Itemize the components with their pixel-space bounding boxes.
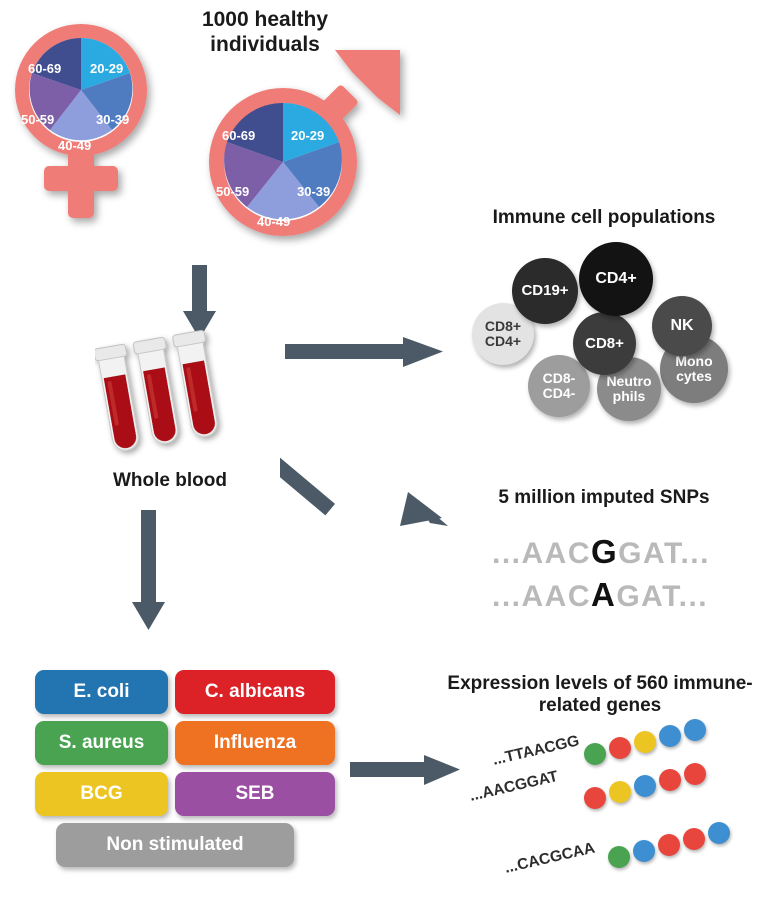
expression-title: Expression levels of 560 immune-related …	[430, 673, 770, 718]
snp-line1-prefix: ...AAC	[492, 537, 591, 570]
bead-red	[683, 828, 705, 850]
stimulus-seb[interactable]: SEB	[175, 772, 335, 816]
immune-cell-label: CD8+ CD4+	[472, 319, 534, 348]
stimulus-label: BCG	[80, 783, 122, 805]
bead-green	[584, 743, 606, 765]
stimulus-e-coli[interactable]: E. coli	[35, 670, 168, 714]
stimulus-c-albicans[interactable]: C. albicans	[175, 670, 335, 714]
bead-blue	[634, 775, 656, 797]
snp-line2-prefix: ...AAC	[492, 580, 591, 613]
female-symbol-graphic	[8, 18, 188, 238]
snp-sequence-line-1: ...AACGGAT...	[492, 533, 710, 571]
stimulus-non-stimulated[interactable]: Non stimulated	[56, 823, 294, 867]
arrow-blood-to-stimuli	[125, 510, 185, 635]
bead-yellow	[609, 781, 631, 803]
arrow-blood-to-immune	[285, 320, 450, 380]
whole-blood-tubes	[95, 330, 255, 465]
immune-cell-label: NK	[670, 318, 693, 335]
bead-red	[684, 763, 706, 785]
immune-cell-label: CD8+	[585, 336, 624, 352]
snp-line2-suffix: GAT...	[616, 580, 708, 613]
snp-line2-variant: A	[591, 576, 616, 613]
bead-blue	[708, 822, 730, 844]
female-sex-symbol: 60-69 20-29 50-59 30-39 40-49	[8, 18, 188, 238]
male-sex-symbol: 60-69 20-29 50-59 30-39 40-49	[195, 42, 425, 252]
bead-blue	[633, 840, 655, 862]
stimulus-label: E. coli	[74, 681, 130, 703]
snp-title: 5 million imputed SNPs	[444, 487, 764, 509]
bead-red	[658, 834, 680, 856]
immune-cell-label: CD8- CD4-	[528, 371, 590, 400]
arrow-blood-to-snps	[280, 418, 460, 548]
stimulus-label: SEB	[235, 783, 274, 805]
immune-cell-nk: NK	[652, 296, 712, 356]
stimulus-label: Influenza	[214, 732, 296, 754]
bead-red	[659, 769, 681, 791]
expression-sequence-3: ...CACGCAA	[503, 840, 597, 878]
snp-line1-variant: G	[591, 533, 618, 570]
stimulus-bcg[interactable]: BCG	[35, 772, 168, 816]
bead-red	[609, 737, 631, 759]
male-symbol-graphic	[195, 42, 425, 252]
figure-canvas: 1000 healthy individuals	[0, 0, 771, 922]
immune-cell-label: Mono cytes	[660, 354, 728, 383]
stimulus-influenza[interactable]: Influenza	[175, 721, 335, 765]
stimulus-label: Non stimulated	[106, 834, 243, 856]
snp-sequence-line-2: ...AACAGAT...	[492, 576, 708, 614]
expression-sequence-1: ...TTAACGG	[491, 732, 581, 769]
immune-cell-cd19pos: CD19+	[512, 258, 578, 324]
snp-line1-suffix: GAT...	[618, 537, 710, 570]
whole-blood-label: Whole blood	[75, 470, 265, 492]
immune-cell-label: CD4+	[595, 271, 636, 288]
bead-blue	[684, 719, 706, 741]
immune-cell-populations-title: Immune cell populations	[444, 207, 764, 229]
immune-cell-label: Neutro phils	[597, 374, 661, 403]
immune-cell-label: CD19+	[521, 283, 568, 299]
bead-blue	[659, 725, 681, 747]
immune-cell-cd4pos: CD4+	[579, 242, 653, 316]
bead-green	[608, 846, 630, 868]
immune-cell-cd8pos: CD8+	[573, 312, 636, 375]
stimulus-label: S. aureus	[59, 732, 145, 754]
arrow-stimuli-to-expression	[350, 748, 465, 792]
stimulus-s-aureus[interactable]: S. aureus	[35, 721, 168, 765]
bead-yellow	[634, 731, 656, 753]
bead-red	[584, 787, 606, 809]
expression-sequence-2: ...AACGGAT	[468, 768, 560, 806]
stimulus-label: C. albicans	[205, 681, 305, 703]
